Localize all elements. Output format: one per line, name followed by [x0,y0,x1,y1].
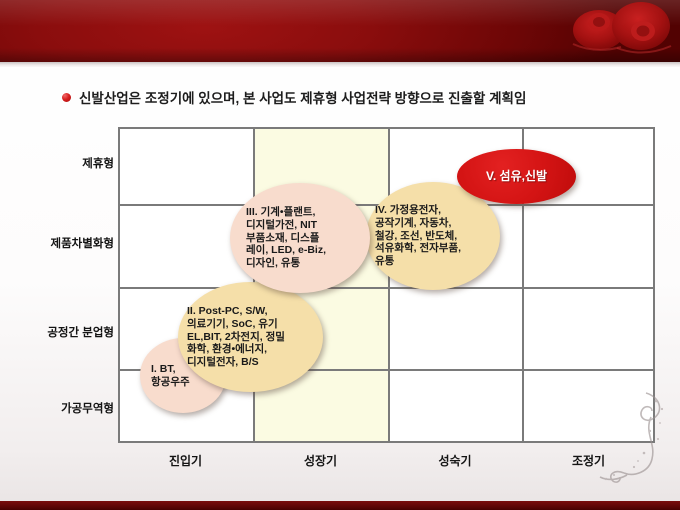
red-bullet-icon [62,93,71,102]
subtitle-text: 신발산업은 조정기에 있으며, 본 사업도 제휴형 사업전략 방향으로 진출할 … [79,87,526,107]
y-axis-label-3: 가공무역형 [61,400,114,416]
gridline-horizontal-2 [120,287,653,289]
subtitle-row: 신발산업은 조정기에 있으며, 본 사업도 제휴형 사업전략 방향으로 진출할 … [62,87,526,107]
bubble-label-iv: IV. 가정용전자, 공작기계, 자동차, 철강, 조선, 반도체, 석유화학,… [366,204,461,268]
x-axis-label-2: 성숙기 [388,452,522,469]
bubble-industry-v-textile-footwear[interactable]: V. 섬유,신발 [457,149,576,204]
bubble-label-v: V. 섬유,신발 [486,169,547,184]
floral-swirl-icon [594,387,672,492]
bubble-industry-ii[interactable]: II. Post-PC, S/W, 의료기기, SoC, 유기 EL,BIT, … [178,282,323,392]
x-axis-label-1: 성장기 [253,452,388,469]
slide-header [0,0,680,62]
bubble-label-ii: II. Post-PC, S/W, 의료기기, SoC, 유기 EL,BIT, … [178,305,285,369]
y-axis-label-1: 제품차별화형 [51,235,114,251]
y-axis-label-0: 제휴형 [82,155,114,171]
header-divider [0,62,680,67]
slide: 신발산업은 조정기에 있으며, 본 사업도 제휴형 사업전략 방향으로 진출할 … [0,0,680,510]
footer-bar [0,501,680,510]
shoe-pair-icon [565,0,680,62]
x-axis-label-0: 진입기 [118,452,253,469]
y-axis-label-2: 공정간 분업형 [47,324,114,340]
bubble-label-iii: III. 기계•플랜트, 디지털가전, NIT 부품소재, 디스플 레이, LE… [230,206,326,270]
gridline-vertical-2 [388,129,390,441]
bubble-industry-iii[interactable]: III. 기계•플랜트, 디지털가전, NIT 부품소재, 디스플 레이, LE… [230,183,370,293]
